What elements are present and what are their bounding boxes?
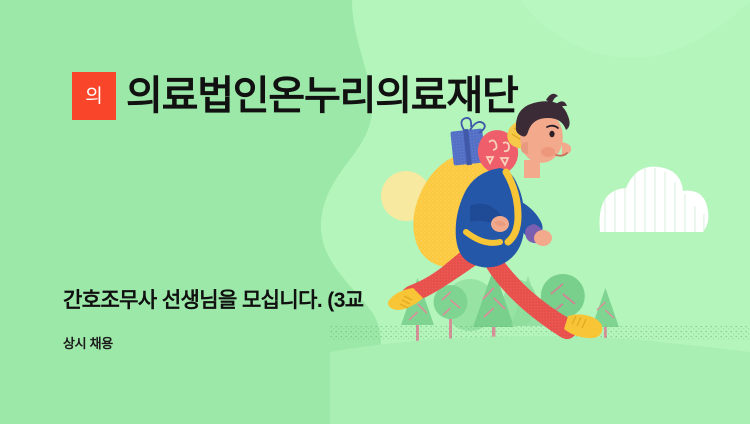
company-name: 의료법인온누리의료재단 [126, 76, 518, 116]
company-logo-badge: 의 [72, 72, 116, 120]
employment-type-label: 상시 채용 [63, 336, 364, 352]
job-posting-card: 의 의료법인온누리의료재단 간호조무사 선생님을 모십니다. (3교 상시 채용 [0, 0, 750, 424]
company-logo-character: 의 [85, 87, 102, 106]
job-title: 간호조무사 선생님을 모십니다. (3교 [63, 288, 364, 314]
background-illustration [0, 0, 750, 424]
ground-hill [330, 336, 750, 424]
posting-text-block: 간호조무사 선생님을 모십니다. (3교 상시 채용 [63, 288, 364, 352]
runner-hand [534, 230, 552, 246]
company-header: 의 의료법인온누리의료재단 [72, 72, 518, 120]
